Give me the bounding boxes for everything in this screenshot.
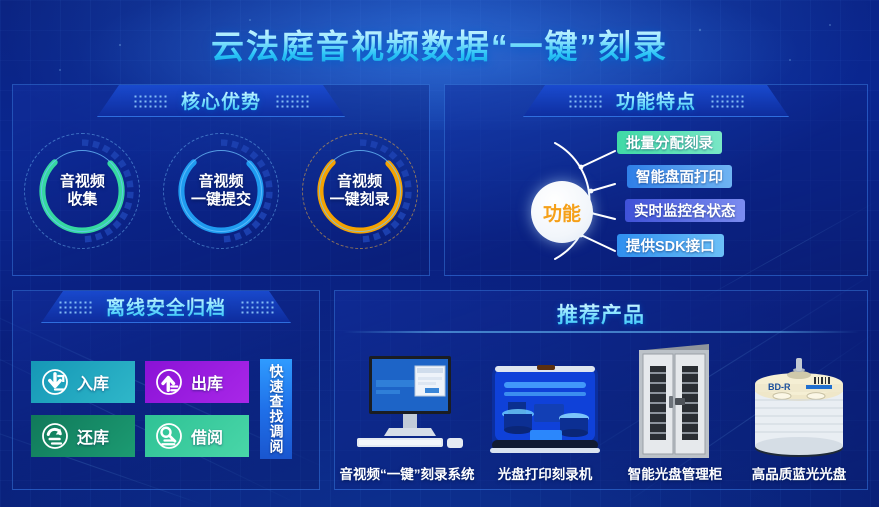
panel-core-advantages: 核心优势 音视频 收集 — [12, 84, 430, 276]
core-advantage-circle[interactable]: 音视频 一键提交 — [163, 133, 279, 249]
disc-printer-image — [477, 342, 613, 460]
feature-tag-label: 提供SDK接口 — [626, 235, 715, 256]
archive-tile-return[interactable]: 还库 — [31, 415, 135, 457]
panel-header-features-label: 功能特点 — [616, 87, 696, 114]
panel-offline-archive: 离线安全归档 入库 出库 — [12, 290, 320, 490]
product-card[interactable]: 音视频“一键”刻录系统 — [339, 342, 475, 483]
bdr-disc-spindle-image: BD-R — [731, 342, 867, 460]
dot-grid-icon — [710, 94, 744, 108]
mindmap-center-label: 功能 — [543, 199, 581, 226]
panel-header-products: 推荐产品 — [335, 299, 867, 329]
archive-tile-checkin[interactable]: 入库 — [31, 361, 135, 403]
product-name: 智能光盘管理柜 — [607, 463, 743, 483]
corner-bracket — [12, 84, 28, 100]
archive-tile-borrow[interactable]: 借阅 — [145, 415, 249, 457]
return-arrow-icon — [40, 421, 70, 451]
corner-bracket — [414, 84, 430, 100]
page-title: 云法庭音视频数据“一键”刻录 — [0, 20, 879, 68]
core-advantage-circle-label: 音视频 一键提交 — [163, 133, 279, 249]
core-advantage-circle-list: 音视频 收集 音视频 一键提交 — [13, 133, 429, 249]
panel-feature-points: 功能特点 功能 批量分配刻录 智能盘 — [444, 84, 868, 276]
archive-tile-checkout[interactable]: 出库 — [145, 361, 249, 403]
svg-text:BD-R: BD-R — [768, 382, 791, 392]
core-advantage-circle-label: 音视频 一键刻录 — [302, 133, 418, 249]
product-card[interactable]: 光盘打印刻录机 — [477, 342, 613, 483]
archive-tile-label: 借阅 — [191, 424, 223, 448]
mindmap-center-node[interactable]: 功能 — [531, 181, 593, 243]
dot-grid-icon — [568, 94, 602, 108]
disc-cabinet-image — [607, 342, 743, 460]
corner-bracket — [12, 474, 28, 490]
archive-tile-label: 入库 — [77, 370, 109, 394]
desktop-computer-image — [339, 342, 475, 460]
quick-lookup-bar-label: 快速查找调阅 — [268, 364, 283, 454]
product-name: 音视频“一键”刻录系统 — [339, 463, 475, 483]
header-divider — [343, 331, 859, 333]
arrow-up-icon — [154, 367, 184, 397]
corner-bracket — [12, 260, 28, 276]
core-advantage-circle[interactable]: 音视频 收集 — [24, 133, 140, 249]
feature-tag[interactable]: 实时监控各状态 — [625, 199, 745, 222]
panel-header-features: 功能特点 — [523, 85, 789, 117]
product-name: 光盘打印刻录机 — [477, 463, 613, 483]
dot-grid-icon — [240, 300, 274, 314]
panel-header-archive-label: 离线安全归档 — [106, 293, 226, 320]
feature-tag[interactable]: 批量分配刻录 — [617, 131, 722, 154]
core-advantage-circle-label: 音视频 收集 — [24, 133, 140, 249]
product-card[interactable]: 智能光盘管理柜 — [607, 342, 743, 483]
corner-bracket — [304, 474, 320, 490]
dot-grid-icon — [133, 94, 167, 108]
corner-bracket — [444, 84, 460, 100]
feature-tag-label: 实时监控各状态 — [634, 200, 736, 221]
dot-grid-icon — [275, 94, 309, 108]
panel-header-core: 核心优势 — [97, 85, 345, 117]
feature-tag[interactable]: 智能盘面打印 — [627, 165, 732, 188]
poster-canvas: 云法庭音视频数据“一键”刻录 核心优势 — [0, 0, 879, 507]
dot-grid-icon — [58, 300, 92, 314]
archive-tile-label: 出库 — [191, 370, 223, 394]
product-name: 高品质蓝光光盘 — [731, 463, 867, 483]
feature-tag-label: 智能盘面打印 — [636, 166, 723, 187]
corner-bracket — [414, 260, 430, 276]
magnifier-icon — [154, 421, 184, 451]
feature-tag[interactable]: 提供SDK接口 — [617, 234, 724, 257]
panel-recommended-products: 推荐产品 — [334, 290, 868, 490]
corner-bracket — [304, 290, 320, 306]
corner-bracket — [444, 260, 460, 276]
product-card[interactable]: BD-R — [731, 342, 867, 483]
feature-tag-label: 批量分配刻录 — [626, 132, 713, 153]
core-advantage-circle[interactable]: 音视频 一键刻录 — [302, 133, 418, 249]
corner-bracket — [852, 84, 868, 100]
quick-lookup-bar[interactable]: 快速查找调阅 — [260, 359, 292, 459]
panel-header-core-label: 核心优势 — [181, 87, 261, 114]
arrow-down-icon — [40, 367, 70, 397]
corner-bracket — [852, 260, 868, 276]
archive-tile-label: 还库 — [77, 424, 109, 448]
corner-bracket — [12, 290, 28, 306]
panel-header-archive: 离线安全归档 — [41, 291, 291, 323]
